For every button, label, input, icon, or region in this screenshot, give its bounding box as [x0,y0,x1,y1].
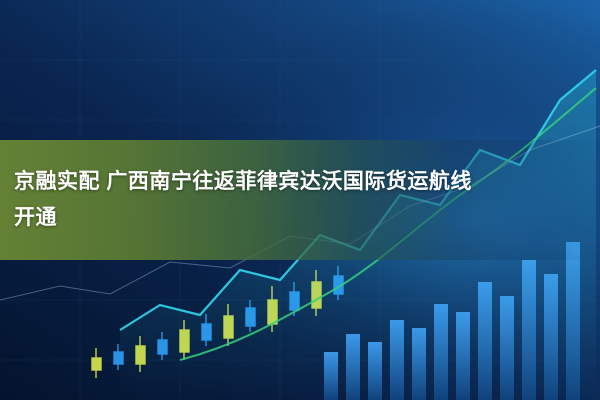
headline-band: 京融实配 广西南宁往返菲律宾达沃国际货运航线开通 [0,140,600,260]
screenshot-root: 京融实配 广西南宁往返菲律宾达沃国际货运航线开通 [0,0,600,400]
page-title: 京融实配 广西南宁往返菲律宾达沃国际货运航线开通 [14,164,484,236]
